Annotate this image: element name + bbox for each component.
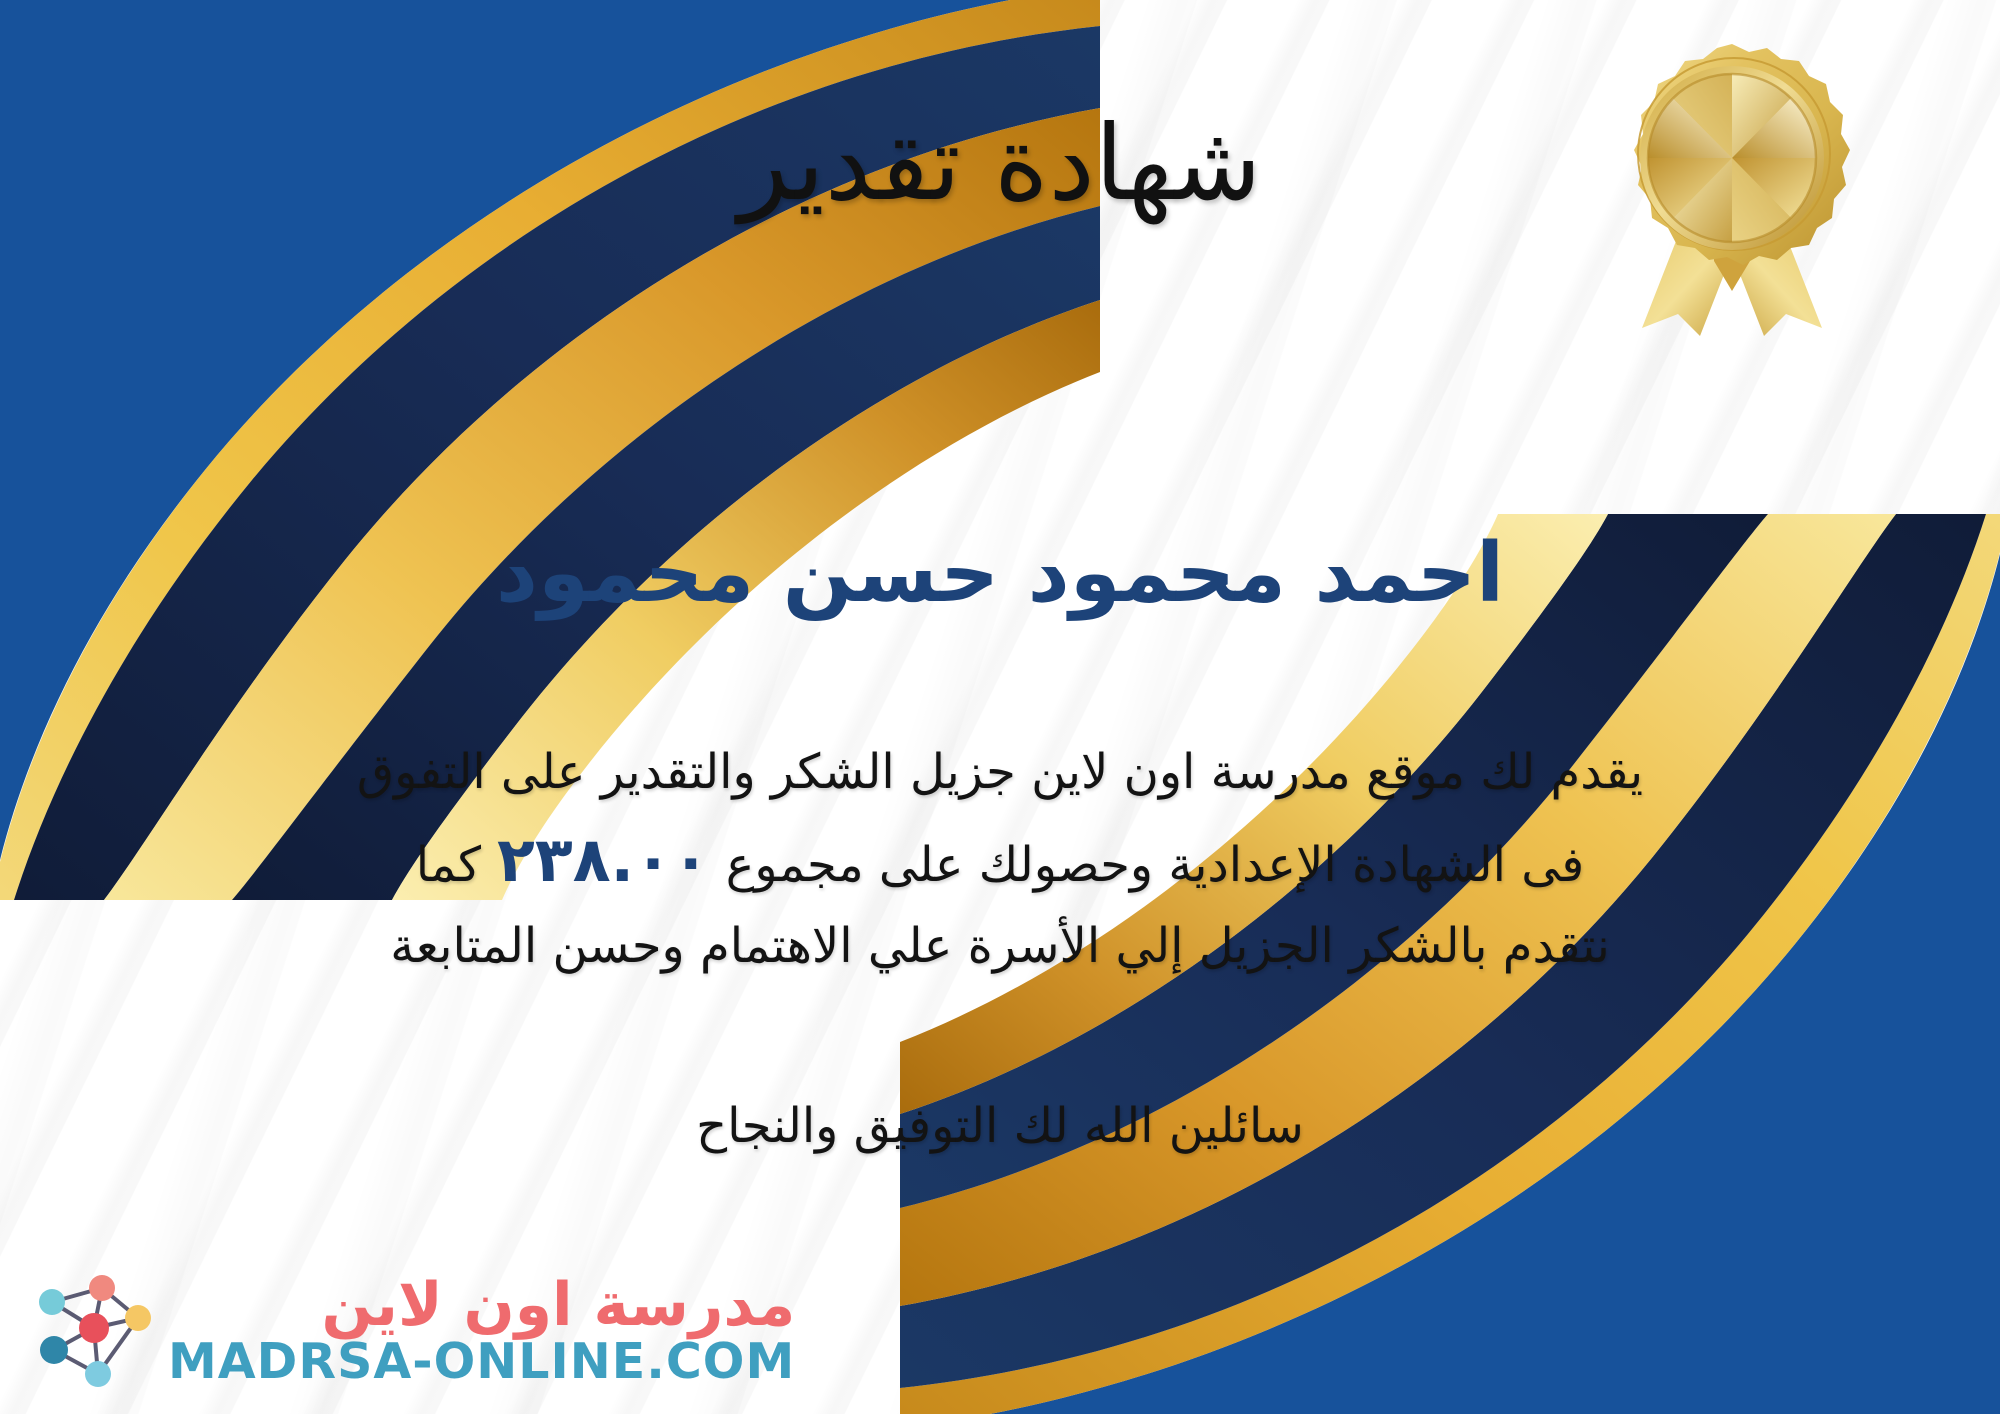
recipient-name: احمد محمود حسن محمود	[0, 525, 2000, 623]
certificate-body: يقدم لك موقع مدرسة اون لاين جزيل الشكر و…	[60, 735, 1940, 985]
body-line-2-suffix: كما	[416, 837, 481, 893]
body-line-1: يقدم لك موقع مدرسة اون لاين جزيل الشكر و…	[60, 735, 1940, 811]
brand-text: مدرسة اون لاين MADRSA-ONLINE.COM	[168, 1275, 795, 1386]
brand-website: MADRSA-ONLINE.COM	[168, 1337, 795, 1387]
certificate-content: شهادة تقدير احمد محمود حسن محمود يقدم لك…	[0, 0, 2000, 1414]
certificate-canvas: شهادة تقدير احمد محمود حسن محمود يقدم لك…	[0, 0, 2000, 1414]
network-nodes-icon	[28, 1266, 158, 1396]
body-line-3: نتقدم بالشكر الجزيل إلي الأسرة علي الاهت…	[60, 909, 1940, 985]
page-title: شهادة تقدير	[0, 104, 2000, 224]
closing-line: سائلين الله لك التوفيق والنجاح	[0, 1090, 2000, 1162]
brand-arabic-name: مدرسة اون لاين	[321, 1275, 795, 1336]
brand-logo[interactable]: مدرسة اون لاين MADRSA-ONLINE.COM	[28, 1266, 795, 1396]
body-line-2-prefix: فى الشهادة الإعدادية وحصولك على مجموع	[726, 837, 1584, 893]
score-value: ٢٣٨.٠٠	[481, 823, 726, 896]
body-line-2: فى الشهادة الإعدادية وحصولك على مجموع٢٣٨…	[60, 811, 1940, 909]
